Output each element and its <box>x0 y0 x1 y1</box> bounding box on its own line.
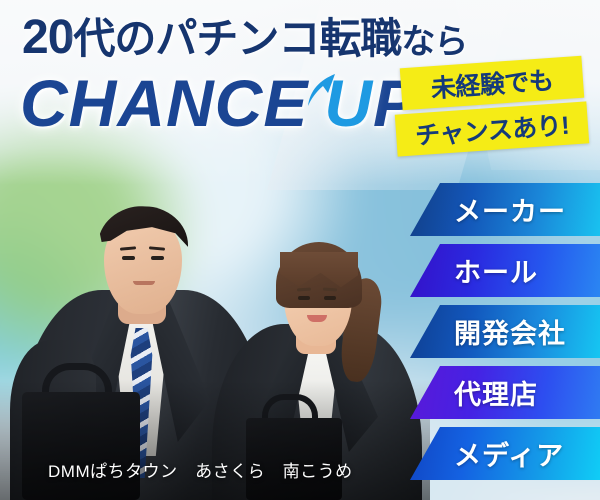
category-bar-maker[interactable]: メーカー <box>410 183 600 236</box>
category-bar-list: メーカー ホール 開発会社 代理店 メディア <box>0 0 600 500</box>
category-label-agency: 代理店 <box>454 373 538 412</box>
category-bar-developer[interactable]: 開発会社 <box>410 305 600 358</box>
category-label-media: メディア <box>454 434 564 473</box>
category-label-developer: 開発会社 <box>454 312 566 351</box>
advertisement-banner[interactable]: 20代のパチンコ転職なら CHANCEUP 未経験でも チャンスあり! メーカー… <box>0 0 600 500</box>
credit-text: DMMぱちタウン あさくら 南こうめ <box>48 457 353 482</box>
category-bar-agency[interactable]: 代理店 <box>410 366 600 419</box>
category-label-hall: ホール <box>454 251 538 290</box>
category-bar-hall[interactable]: ホール <box>410 244 600 297</box>
category-label-maker: メーカー <box>454 190 566 229</box>
category-bar-media[interactable]: メディア <box>410 427 600 480</box>
